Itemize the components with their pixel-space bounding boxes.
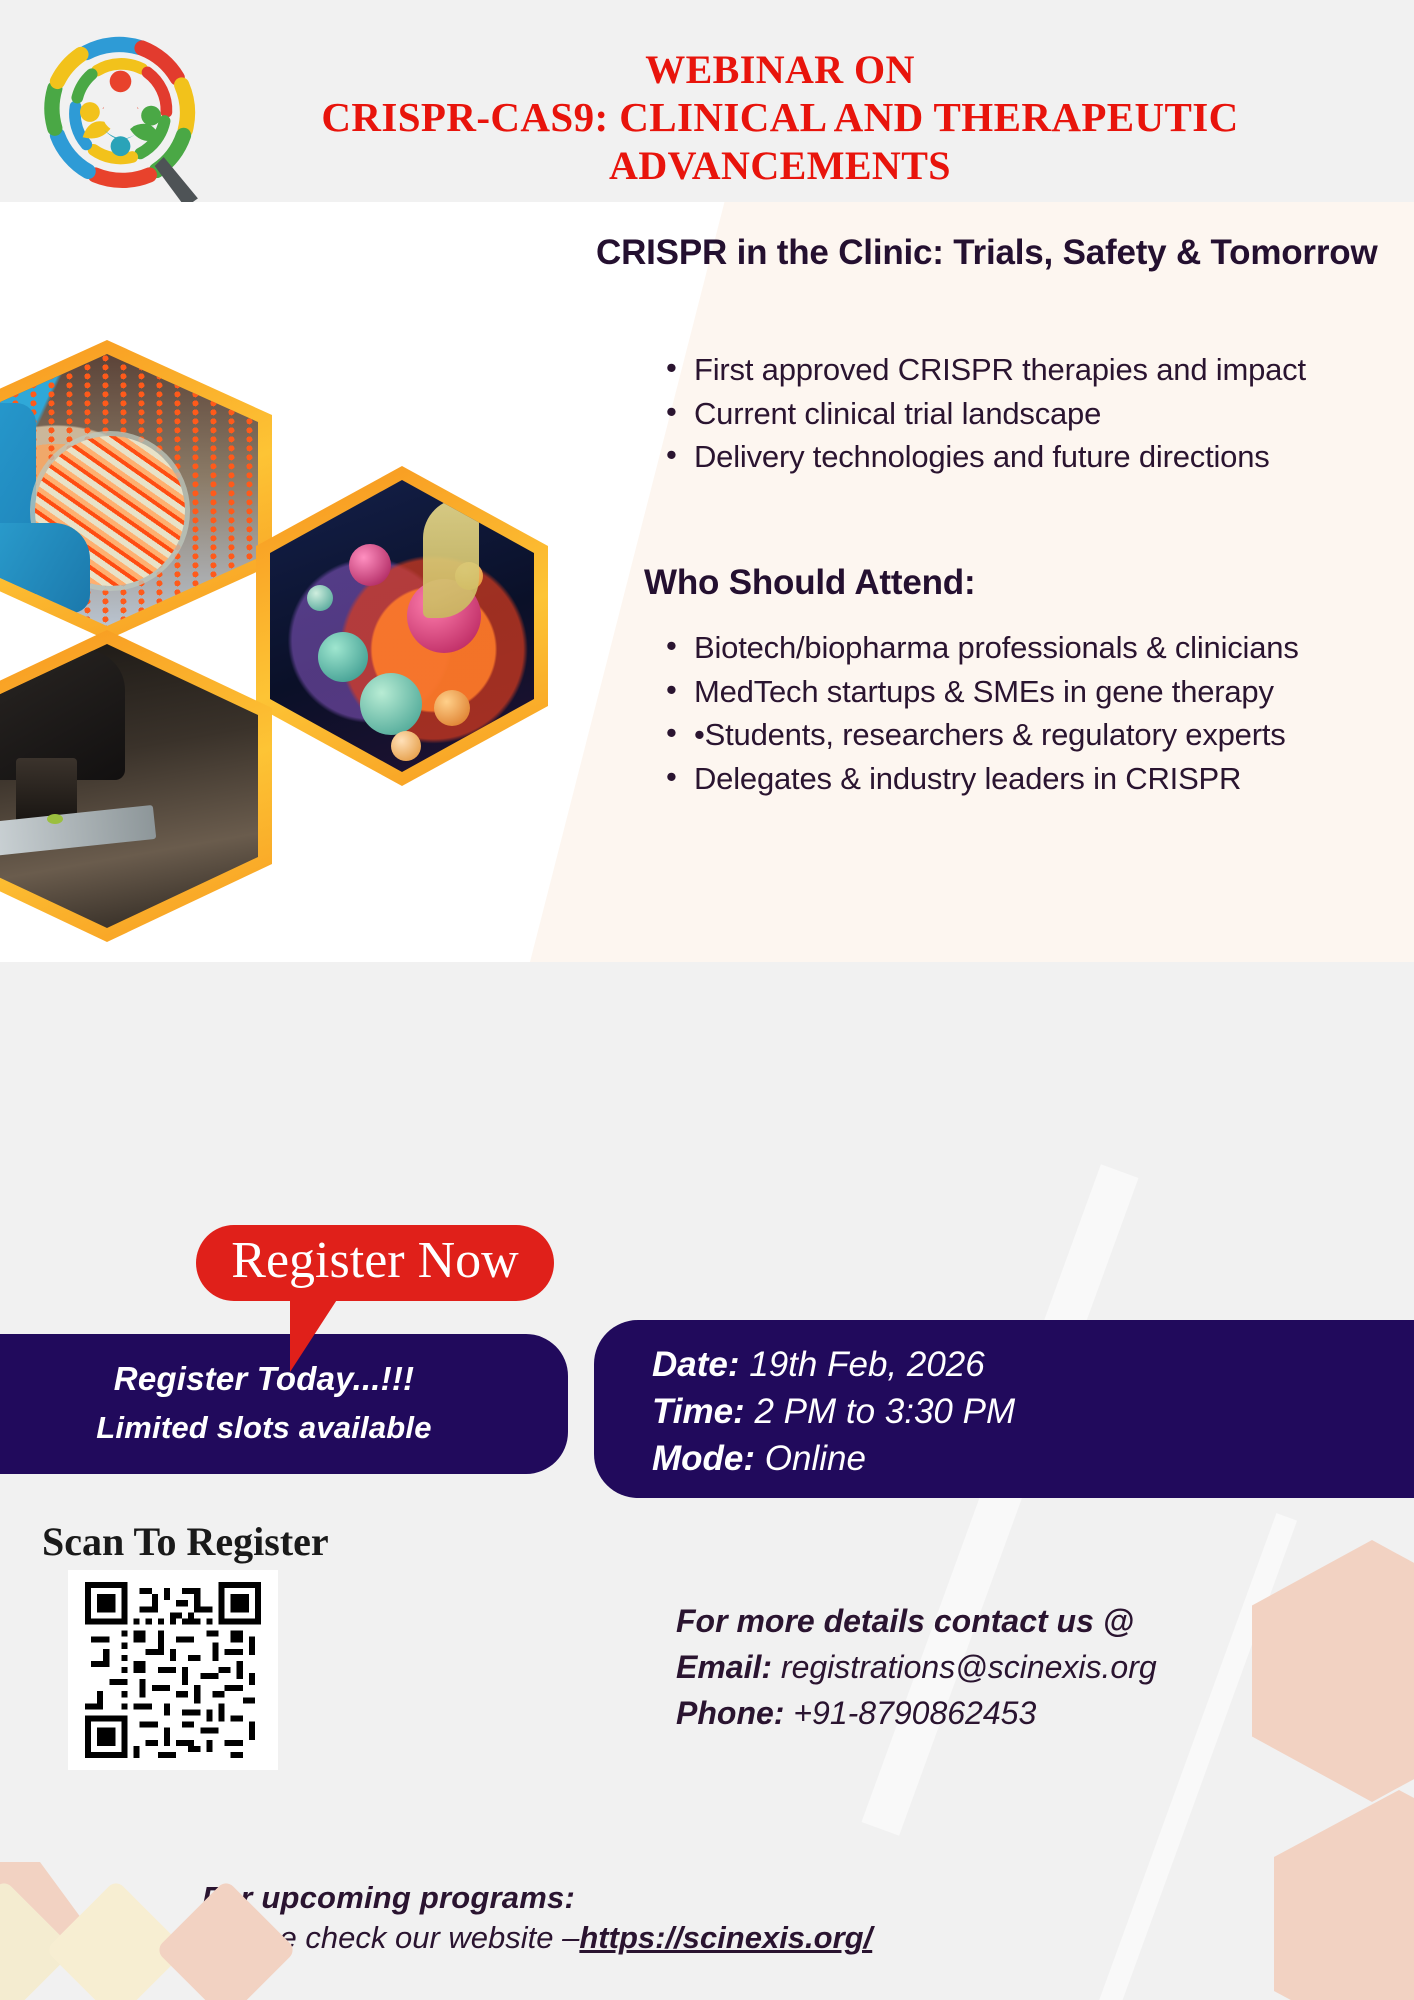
list-item: Biotech/biopharma professionals & clinic… [652,628,1412,668]
list-item: First approved CRISPR therapies and impa… [652,350,1412,390]
time-value: 2 PM to 3:30 PM [745,1392,1015,1431]
title-line-3: ADVANCEMENTS [230,142,1330,189]
section-heading-attendees: Who Should Attend: [644,558,975,608]
time-row: Time: 2 PM to 3:30 PM [652,1389,1414,1436]
page-title: WEBINAR ON CRISPR-CAS9: CLINICAL AND THE… [230,46,1330,189]
speech-bubble-tail [290,1292,342,1372]
attendees-bullet-list: Biotech/biopharma professionals & clinic… [652,628,1412,803]
phone-label: Phone: [676,1695,784,1731]
mode-label: Mode: [652,1439,755,1478]
list-item: Delivery technologies and future directi… [652,437,1412,477]
website-link[interactable]: https://scinexis.org/ [579,1920,872,1955]
footer: For upcoming programs: Please check our … [202,1880,1202,1956]
register-today-label: Register Today...!!! [0,1360,568,1398]
limited-slots-label: Limited slots available [0,1410,568,1446]
clinic-bullet-list: First approved CRISPR therapies and impa… [652,350,1412,481]
scinexis-magnifier-logo [28,22,213,202]
phone-value[interactable]: +91-8790862453 [784,1695,1036,1731]
date-value: 19th Feb, 2026 [740,1345,985,1384]
mode-row: Mode: Online [652,1436,1414,1483]
date-row: Date: 19th Feb, 2026 [652,1342,1414,1389]
contact-intro-label: For more details contact us @ [676,1603,1134,1639]
list-item: MedTech startups & SMEs in gene therapy [652,672,1412,712]
date-label: Date: [652,1345,740,1384]
email-value[interactable]: registrations@scinexis.org [772,1649,1157,1685]
event-details-box: Date: 19th Feb, 2026 Time: 2 PM to 3:30 … [594,1320,1414,1498]
section-heading-clinic: CRISPR in the Clinic: Trials, Safety & T… [596,228,1386,278]
email-label: Email: [676,1649,772,1685]
website-line: Please check our website –https://scinex… [202,1920,1202,1956]
webinar-flyer: WEBINAR ON CRISPR-CAS9: CLINICAL AND THE… [0,0,1414,2000]
title-line-1: WEBINAR ON [230,46,1330,93]
decor-hexagon-pink [1252,1540,1414,1802]
register-today-banner: Register Today...!!! Limited slots avail… [0,1334,568,1474]
registration-qr-code[interactable] [68,1570,278,1770]
list-item: Current clinical trial landscape [652,394,1412,434]
mode-value: Online [755,1439,866,1478]
time-label: Time: [652,1392,745,1431]
upcoming-programs-label: For upcoming programs: [202,1880,1202,1916]
list-item: •Students, researchers & regulatory expe… [652,715,1412,755]
header: WEBINAR ON CRISPR-CAS9: CLINICAL AND THE… [0,0,1414,202]
scan-to-register-heading: Scan To Register [42,1518,329,1565]
list-item: Delegates & industry leaders in CRISPR [652,759,1412,799]
title-line-2: CRISPR-CAS9: CLINICAL AND THERAPEUTIC [230,93,1330,141]
decor-hexagon-pink [1274,1790,1414,2000]
register-now-label: Register Now [231,1235,518,1292]
register-now-button[interactable]: Register Now [196,1225,554,1301]
